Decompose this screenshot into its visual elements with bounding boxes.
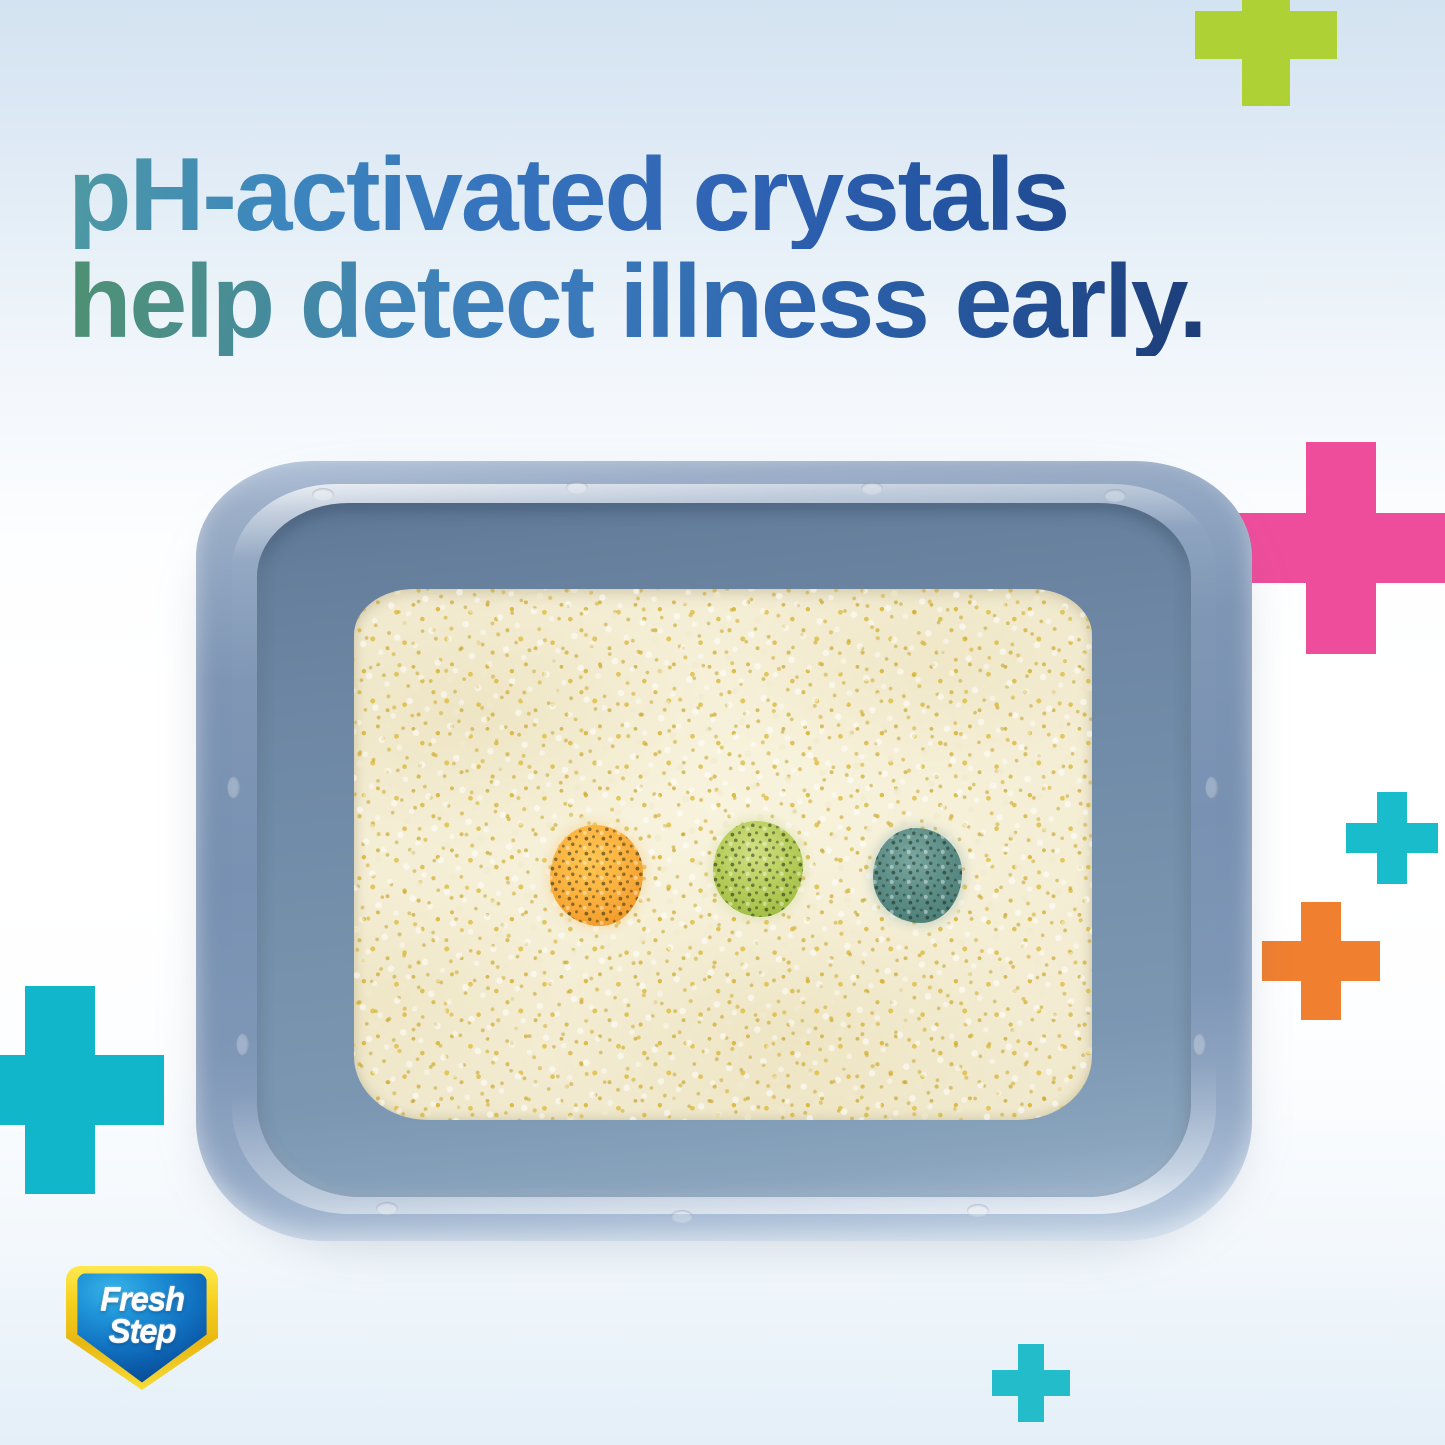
cross-teal-right-small-icon xyxy=(1346,792,1438,884)
tray-rim-dimple xyxy=(1193,1034,1206,1056)
headline-line-2: help detect illness early. xyxy=(68,249,1358,356)
cat-litter-box-photo xyxy=(196,461,1252,1241)
tray-rim-dimple xyxy=(1206,776,1219,798)
cross-teal-bottom-small-icon xyxy=(992,1344,1070,1422)
ph-spot-green xyxy=(713,821,803,918)
tray-rim-dimple xyxy=(236,1034,249,1056)
logo-wordmark-line-2: Step xyxy=(66,1315,218,1347)
fresh-step-logo: Fresh Step xyxy=(66,1266,218,1390)
tray-inner-wall xyxy=(257,503,1191,1197)
tray-rim-dimple xyxy=(967,1204,989,1217)
tray-rim-dimple xyxy=(376,1202,398,1215)
headline: pH-activated crystals help detect illnes… xyxy=(68,142,1358,356)
cross-orange-right-icon xyxy=(1262,902,1380,1020)
crystal-litter-surface xyxy=(354,589,1091,1120)
ph-spot-teal-grain xyxy=(873,828,961,923)
headline-line-1: pH-activated crystals xyxy=(68,142,1358,249)
ph-spot-teal xyxy=(873,828,961,923)
cross-pink-right-icon xyxy=(1235,442,1445,654)
tray-rim-dimple xyxy=(312,488,334,501)
cross-teal-left-large-icon xyxy=(0,986,164,1194)
cross-lime-top-right-icon xyxy=(1195,0,1337,106)
litter-tray xyxy=(196,461,1252,1241)
logo-wordmark-line-1: Fresh xyxy=(66,1283,218,1315)
ph-spot-green-grain xyxy=(713,821,803,918)
tray-rim-dimple xyxy=(671,1210,693,1223)
product-marketing-image: pH-activated crystals help detect illnes… xyxy=(0,0,1445,1445)
ph-spot-orange-grain xyxy=(550,825,643,926)
logo-wordmark: Fresh Step xyxy=(66,1283,218,1346)
tray-rim-dimple xyxy=(566,481,588,494)
ph-spot-orange xyxy=(550,825,643,926)
